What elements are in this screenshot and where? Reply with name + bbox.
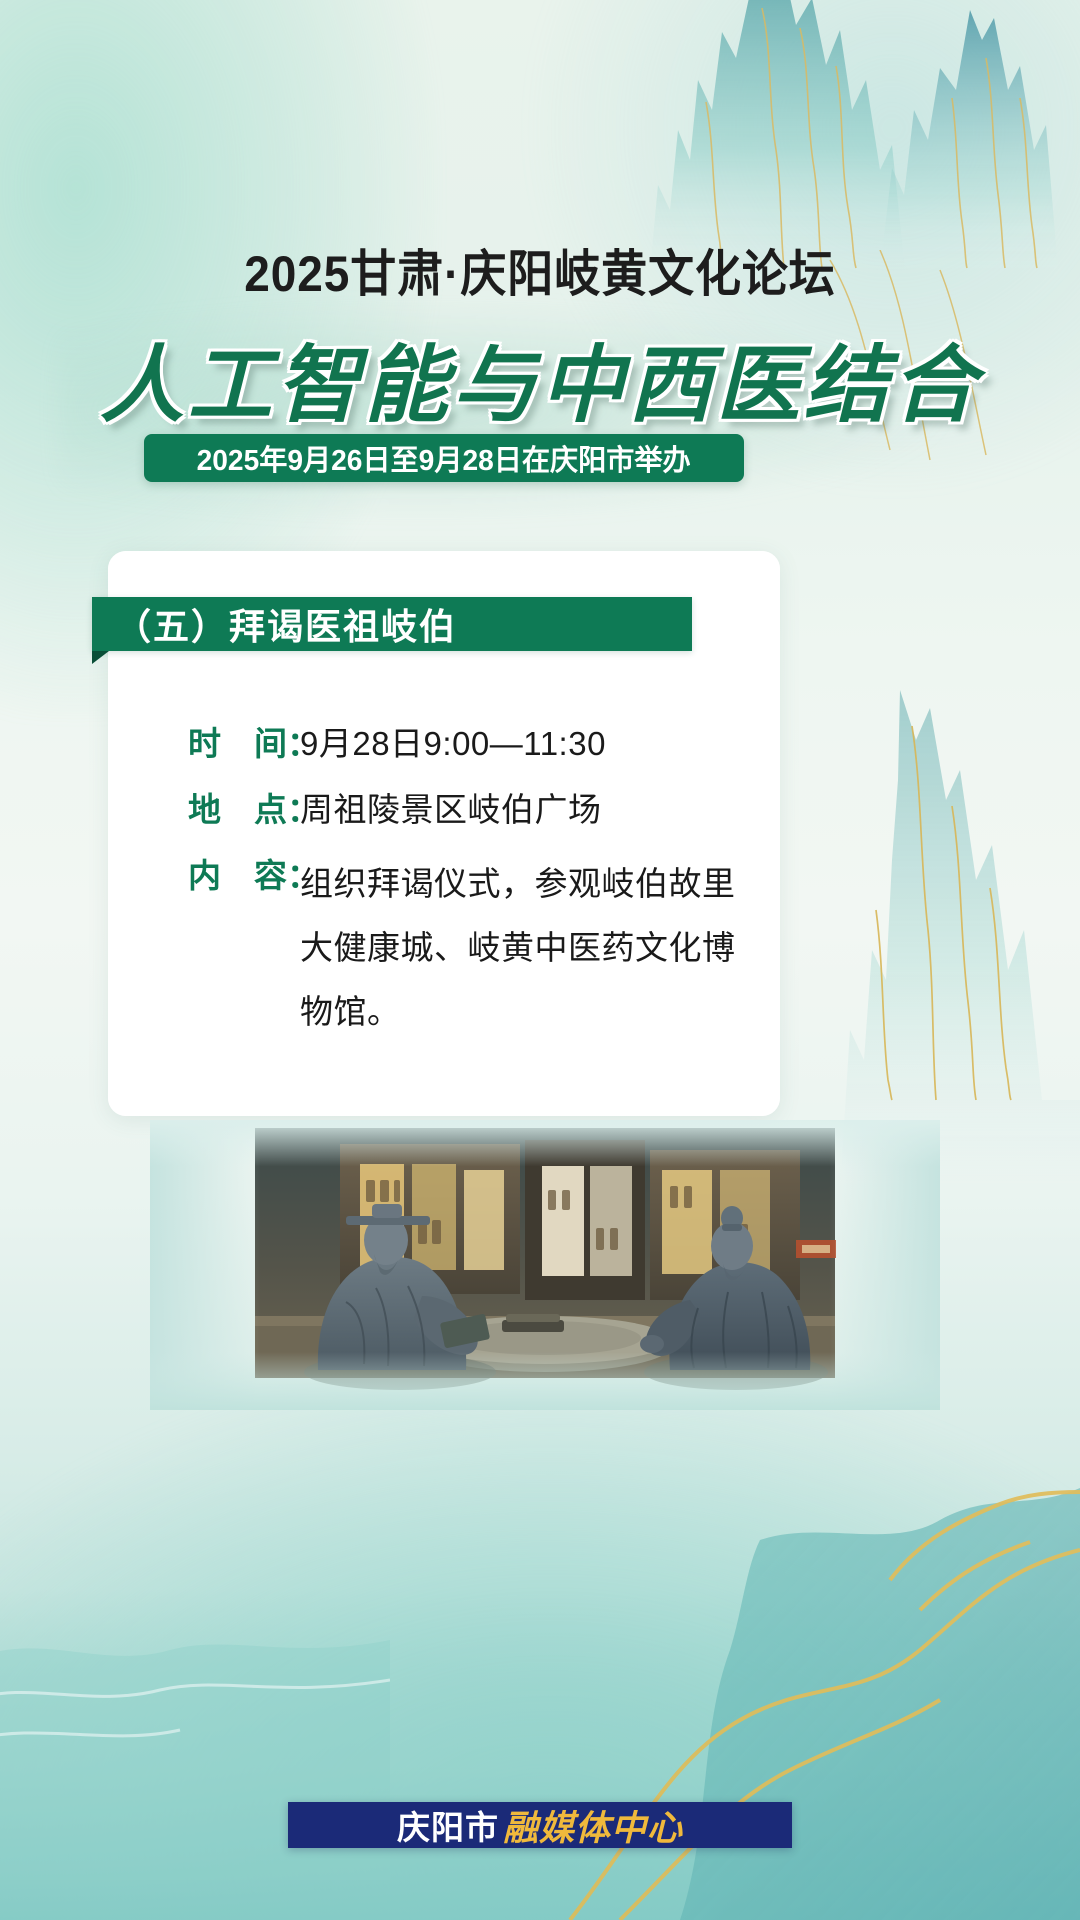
media-center-name-label: 融媒体中心 <box>503 1800 683 1851</box>
section-header-bar: （五）拜谒医祖岐伯 <box>92 597 692 651</box>
detail-row-time: 时 间： 9月28日9:00—11:30 <box>108 720 780 768</box>
detail-row-content: 内 容： 组织拜谒仪式，参观岐伯故里 大健康城、岐黄中医药文化博 物馆。 <box>108 852 780 1044</box>
detail-value-content-line-3: 物馆。 <box>300 980 736 1044</box>
media-center-badge: 庆阳市 融媒体中心 <box>288 1802 792 1848</box>
date-banner-label: 2025年9月26日至9月28日在庆阳市举办 <box>197 437 691 479</box>
detail-value-time: 9月28日9:00—11:30 <box>300 720 606 768</box>
detail-label-time: 时 间： <box>188 720 300 768</box>
date-banner: 2025年9月26日至9月28日在庆阳市举办 <box>144 434 744 482</box>
poster-root: 2025甘肃·庆阳岐黄文化论坛 人工智能与中西医结合 2025年9月26日至9月… <box>0 0 1080 1920</box>
media-center-city-label: 庆阳市 <box>397 1801 499 1849</box>
detail-value-location: 周祖陵景区岐伯广场 <box>300 786 602 834</box>
detail-row-location: 地 点： 周祖陵景区岐伯广场 <box>108 786 780 834</box>
detail-value-content-line-2: 大健康城、岐黄中医药文化博 <box>300 916 736 980</box>
detail-label-location: 地 点： <box>188 786 300 834</box>
detail-label-content: 内 容： <box>188 852 300 900</box>
statue-photo <box>150 1120 940 1410</box>
page-subtitle: 2025甘肃·庆阳岐黄文化论坛 <box>43 234 1037 306</box>
detail-list: 时 间： 9月28日9:00—11:30 地 点： 周祖陵景区岐伯广场 内 容：… <box>108 720 780 1062</box>
section-heading: （五）拜谒医祖岐伯 <box>115 598 457 650</box>
detail-value-content: 组织拜谒仪式，参观岐伯故里 大健康城、岐黄中医药文化博 物馆。 <box>300 852 736 1044</box>
detail-value-content-line-1: 组织拜谒仪式，参观岐伯故里 <box>300 852 736 916</box>
mountain-range-right-icon <box>780 630 1080 1190</box>
section-header-tail-icon <box>92 651 109 664</box>
page-title: 人工智能与中西医结合 <box>0 318 1080 439</box>
